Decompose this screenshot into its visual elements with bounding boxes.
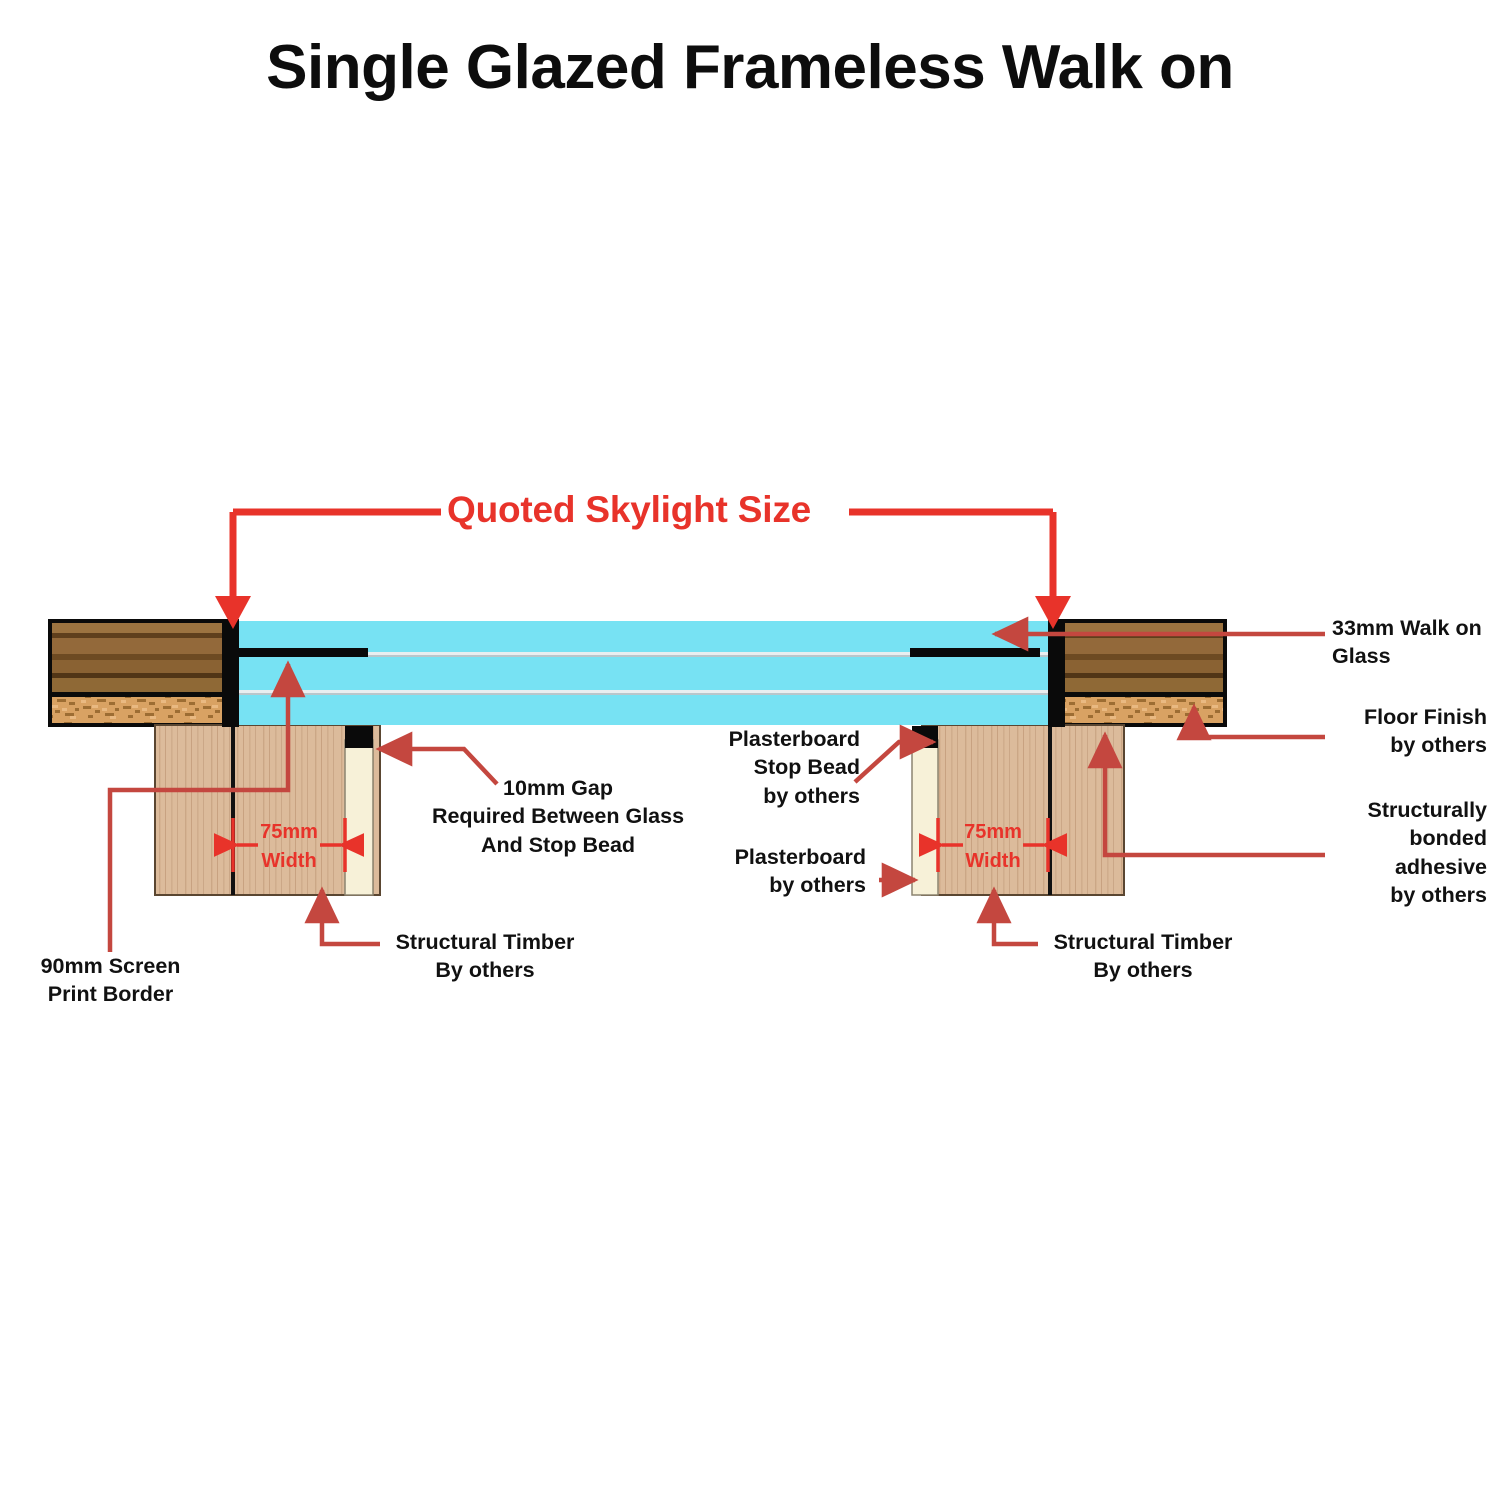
plasterboard-right [912, 740, 938, 895]
plasterboard-stop-bead-right [912, 726, 938, 748]
walk-on-glass-unit [225, 621, 1063, 725]
label-33mm-walk-on-glass: 33mm Walk on Glass [1332, 614, 1492, 671]
floor-finish-left [50, 621, 225, 725]
label-floor-finish: Floor Finish by others [1272, 703, 1487, 760]
floor-finish-right [1063, 621, 1225, 725]
structural-adhesive-left [222, 619, 239, 727]
label-structurally-bonded-adhesive: Structurally bonded adhesive by others [1262, 796, 1487, 910]
quoted-skylight-size-label: Quoted Skylight Size [447, 489, 811, 531]
label-plasterboard-stop-bead: Plasterboard Stop Bead by others [660, 725, 860, 810]
screen-print-border-right [910, 648, 1040, 657]
plasterboard-stop-bead-left [345, 726, 373, 748]
diagram-page: Single Glazed Frameless Walk on [0, 0, 1500, 1500]
label-structural-timber-right: Structural Timber By others [1043, 928, 1243, 985]
screen-print-border-left [235, 648, 368, 657]
label-structural-timber-left: Structural Timber By others [385, 928, 585, 985]
plasterboard-left [345, 740, 373, 895]
dimension-label-75mm-right: 75mm Width [938, 818, 1048, 876]
label-plasterboard: Plasterboard by others [666, 843, 866, 900]
dimension-label-75mm-left: 75mm Width [233, 818, 345, 876]
label-90mm-screen-print-border: 90mm Screen Print Border [18, 952, 203, 1009]
